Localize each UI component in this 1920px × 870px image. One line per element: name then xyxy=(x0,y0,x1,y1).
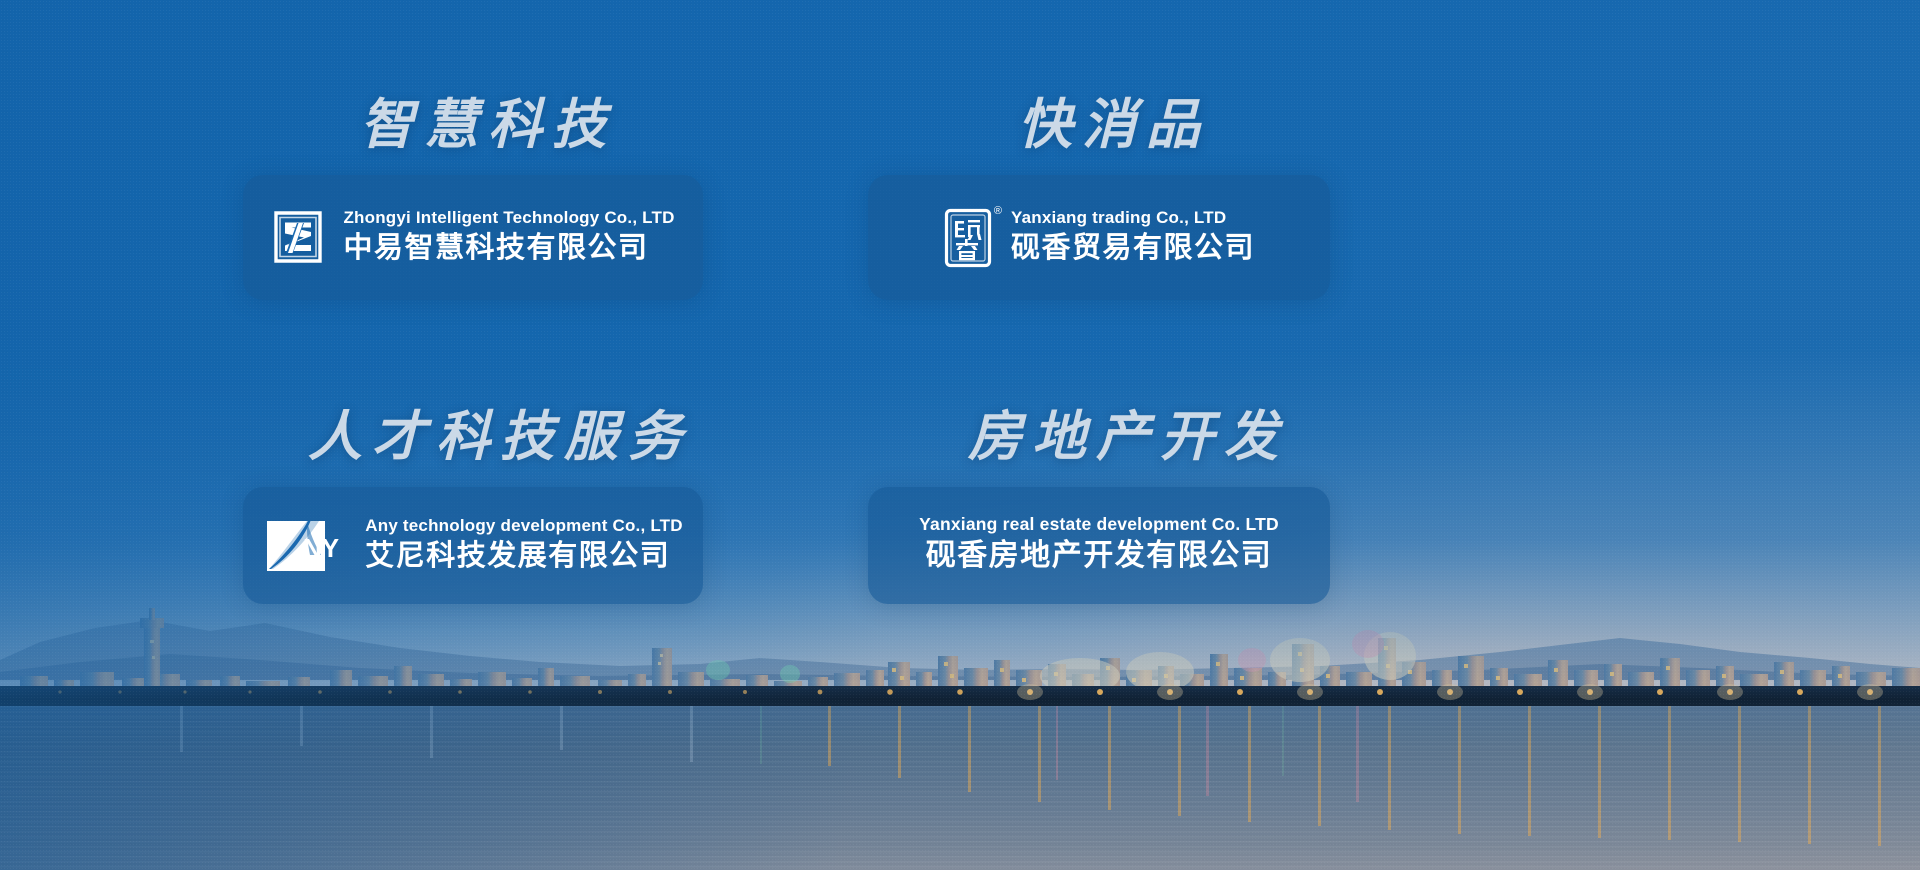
company-card-yanxiang-trading[interactable]: ® Yanxiang trading Co., LTD 砚香贸易有限公司 xyxy=(868,175,1330,300)
company-card-any-technology[interactable]: NY Any technology development Co., LTD 艾… xyxy=(243,487,703,604)
any-mountain-ny-logo-icon: NY xyxy=(263,515,355,577)
company-name-en-3: Yanxiang real estate development Co. LTD xyxy=(919,514,1279,536)
zhongyi-z-mark-logo-icon xyxy=(271,209,325,265)
segment-title-2: 人才科技服务 xyxy=(308,410,692,464)
company-name-cn-2: 艾尼科技发展有限公司 xyxy=(365,537,682,576)
company-card-zhongyi[interactable]: Zhongyi Intelligent Technology Co., LTD … xyxy=(243,175,703,300)
company-name-cn-1: 砚香贸易有限公司 xyxy=(1011,229,1255,268)
company-name-cn-0: 中易智慧科技有限公司 xyxy=(343,229,674,268)
segment-kuaixiaopin: 快消品 xyxy=(868,175,1330,300)
company-name-cn-3: 砚香房地产开发有限公司 xyxy=(926,536,1273,577)
svg-text:NY: NY xyxy=(303,533,339,563)
company-name-en-2: Any technology development Co., LTD xyxy=(365,515,682,536)
yanxiang-seal-logo-icon xyxy=(943,207,993,269)
segment-title-1: 快消品 xyxy=(1018,98,1210,152)
segments-grid: 智慧科技 Zhongyi Intelligent Technology Co.,… xyxy=(0,0,1920,870)
segment-rencai-keji-fuwu: 人才科技服务 NY Any technology development Co.… xyxy=(243,487,703,604)
segment-fangdichan-kaifa: 房地产开发 Yanxiang real estate development C… xyxy=(868,487,1330,604)
company-name-en-0: Zhongyi Intelligent Technology Co., LTD xyxy=(343,207,674,228)
company-segments-banner: 智慧科技 Zhongyi Intelligent Technology Co.,… xyxy=(0,0,1920,870)
segment-title-0: 智慧科技 xyxy=(360,98,616,152)
company-card-yanxiang-real-estate[interactable]: Yanxiang real estate development Co. LTD… xyxy=(868,487,1330,604)
company-name-en-1: Yanxiang trading Co., LTD xyxy=(1011,207,1255,228)
registered-trademark-icon: ® xyxy=(994,206,1002,217)
segment-zhihui-keji: 智慧科技 Zhongyi Intelligent Technology Co.,… xyxy=(243,175,703,300)
segment-title-3: 房地产开发 xyxy=(968,410,1288,464)
